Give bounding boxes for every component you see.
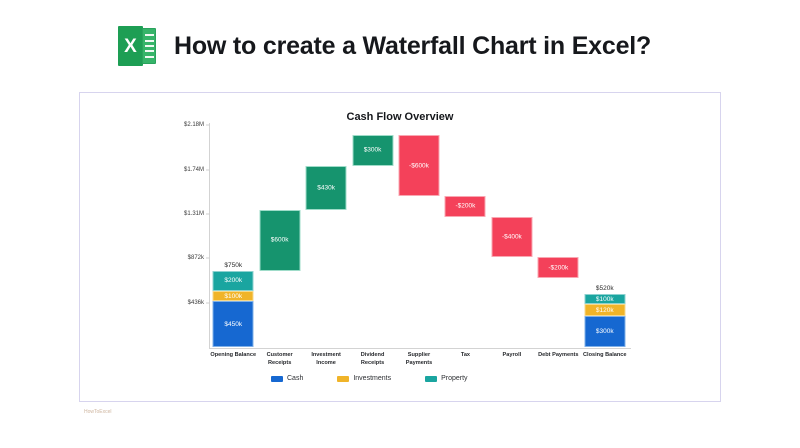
bar-segment-label: $100k (224, 293, 242, 300)
legend-swatch-icon (337, 376, 349, 382)
x-axis-category-label: Closing Balance (581, 352, 629, 360)
bar-value-label: $600k (260, 237, 299, 244)
plot-area: $2.18M$1.74M$1.31M$872k$436k$450k$100k$2… (210, 125, 628, 347)
bar-group[interactable]: $300kDividend Receipts (349, 125, 395, 347)
x-axis-category-label: Dividend Receipts (349, 352, 397, 367)
chart-legend: CashInvestmentsProperty (209, 375, 629, 382)
excel-icon-body: X (118, 26, 143, 66)
bar-group[interactable]: $430kInvestment Income (303, 125, 349, 347)
bar-value-label: $300k (353, 147, 392, 154)
excel-icon: X (118, 26, 156, 66)
bar-total-label: $520k (596, 285, 614, 292)
y-axis-tick-label: $2.18M (184, 122, 204, 128)
watermark: HowToExcel (84, 409, 112, 415)
x-axis-category-label: Customer Receipts (256, 352, 304, 367)
bar-group[interactable]: $600kCustomer Receipts (256, 125, 302, 347)
bar-group[interactable]: -$200kTax (442, 125, 488, 347)
legend-item[interactable]: Property (425, 375, 467, 382)
x-axis-category-label: Opening Balance (209, 352, 257, 360)
bar-value-label: -$200k (446, 203, 485, 210)
bar-segment-property[interactable]: $100k (584, 294, 625, 304)
bar-value-label: -$200k (539, 264, 578, 271)
bar-segment-investments[interactable]: $100k (213, 291, 254, 301)
bar-segment-label: $450k (224, 321, 242, 328)
bar-value-label: -$600k (399, 162, 438, 169)
bar-value-label: $430k (307, 184, 346, 191)
bar-segment-label: $120k (596, 307, 614, 314)
bar-segment-label: $200k (224, 277, 242, 284)
legend-item[interactable]: Investments (337, 375, 391, 382)
x-axis-category-label: Tax (441, 352, 489, 360)
y-axis-tick-label: $872k (188, 255, 204, 261)
legend-swatch-icon (425, 376, 437, 382)
legend-swatch-icon (271, 376, 283, 382)
legend-item[interactable]: Cash (271, 375, 303, 382)
bar-group[interactable]: -$400kPayroll (489, 125, 535, 347)
bar-increase[interactable]: $600k (259, 210, 300, 271)
chart-card: Cash Flow Overview $2.18M$1.74M$1.31M$87… (79, 92, 721, 402)
bar-decrease[interactable]: -$600k (398, 135, 439, 196)
bar-decrease[interactable]: -$200k (445, 196, 486, 216)
x-axis-line (209, 348, 631, 349)
legend-label: Cash (287, 375, 303, 382)
bar-decrease[interactable]: -$400k (491, 217, 532, 258)
x-axis-category-label: Payroll (488, 352, 536, 360)
bar-segment-cash[interactable]: $450k (213, 301, 254, 347)
x-axis-category-label: Supplier Payments (395, 352, 443, 367)
excel-icon-letter: X (124, 37, 137, 56)
bar-segment-property[interactable]: $200k (213, 271, 254, 291)
y-axis-tick-label: $1.74M (184, 167, 204, 173)
bar-segment-investments[interactable]: $120k (584, 304, 625, 316)
bar-decrease[interactable]: -$200k (538, 257, 579, 277)
chart-title: Cash Flow Overview (80, 111, 720, 123)
excel-icon-sheet-flap (142, 28, 156, 64)
bar-group[interactable]: $450k$100k$200k$750kOpening Balance (210, 125, 256, 347)
bar-group[interactable]: -$200kDebt Payments (535, 125, 581, 347)
y-axis-tick-label: $436k (188, 300, 204, 306)
x-axis-category-label: Investment Income (302, 352, 350, 367)
bar-increase[interactable]: $430k (306, 166, 347, 210)
bar-value-label: -$400k (492, 234, 531, 241)
bar-segment-label: $300k (596, 328, 614, 335)
legend-label: Investments (353, 375, 391, 382)
bar-group[interactable]: -$600kSupplier Payments (396, 125, 442, 347)
x-axis-category-label: Debt Payments (534, 352, 582, 360)
bar-increase[interactable]: $300k (352, 135, 393, 166)
bar-segment-cash[interactable]: $300k (584, 316, 625, 347)
page-title: How to create a Waterfall Chart in Excel… (174, 32, 651, 61)
legend-label: Property (441, 375, 467, 382)
bar-segment-label: $100k (596, 296, 614, 303)
bar-total-label: $750k (224, 262, 242, 269)
y-axis-tick-label: $1.31M (184, 211, 204, 217)
bar-group[interactable]: $300k$120k$100k$520kClosing Balance (582, 125, 628, 347)
page-header: X How to create a Waterfall Chart in Exc… (0, 0, 800, 92)
